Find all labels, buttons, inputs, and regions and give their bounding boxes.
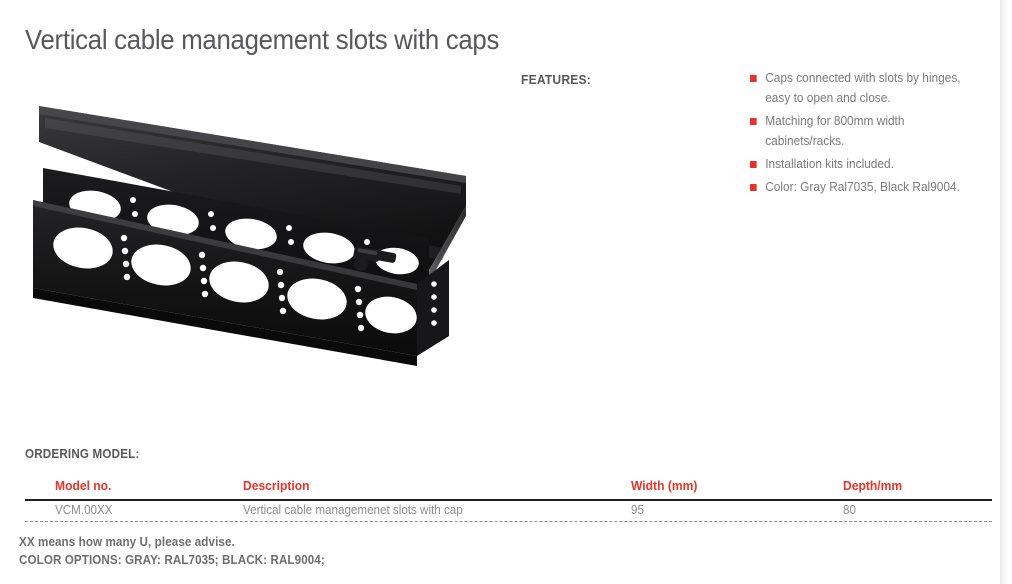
bullet-square-icon — [750, 75, 757, 82]
ordering-model-label: ORDERING MODEL: — [25, 447, 140, 461]
bullet-square-icon — [750, 184, 757, 191]
feature-item: Caps connected with slots by hinges, eas… — [750, 68, 983, 108]
feature-text: Color: Gray Ral7035, Black Ral9004. — [765, 180, 960, 194]
footer-notes: XX means how many U, please advise. COLO… — [19, 533, 348, 569]
table-header-rule — [25, 499, 992, 501]
feature-item: Matching for 800mm width cabinets/racks. — [750, 111, 983, 151]
features-label: FEATURES: — [521, 72, 591, 87]
feature-text: Matching for 800mm width cabinets/racks. — [765, 114, 904, 148]
cell-description: Vertical cable managemenet slots with ca… — [243, 503, 463, 517]
cell-model: VCM.00XX — [55, 503, 113, 517]
note-xx-meaning: XX means how many U, please advise. — [19, 533, 325, 551]
column-header-description: Description — [243, 478, 310, 493]
column-header-width: Width (mm) — [631, 478, 697, 493]
feature-item: Installation kits included. — [750, 154, 983, 174]
product-photo — [25, 88, 470, 428]
features-list: Caps connected with slots by hinges, eas… — [750, 68, 995, 200]
ordering-table: Model no. Description Width (mm) Depth/m… — [25, 478, 992, 500]
table-bottom-rule — [25, 521, 992, 522]
feature-item: Color: Gray Ral7035, Black Ral9004. — [750, 177, 983, 197]
bullet-square-icon — [750, 161, 757, 168]
datasheet-page: Vertical cable management slots with cap… — [0, 0, 1000, 584]
note-color-options: COLOR OPTIONS: GRAY: RAL7035; BLACK: RAL… — [19, 551, 325, 569]
product-illustration — [25, 88, 470, 428]
column-header-depth: Depth/mm — [843, 478, 902, 493]
feature-text: Caps connected with slots by hinges, eas… — [765, 71, 960, 105]
page-title: Vertical cable management slots with cap… — [25, 24, 499, 56]
feature-text: Installation kits included. — [765, 157, 894, 171]
table-header-row: Model no. Description Width (mm) Depth/m… — [25, 478, 992, 500]
cell-depth: 80 — [843, 503, 856, 517]
bullet-square-icon — [750, 118, 757, 125]
column-header-model: Model no. — [55, 478, 111, 493]
page-edge — [1000, 0, 1012, 584]
cell-width: 95 — [631, 503, 644, 517]
